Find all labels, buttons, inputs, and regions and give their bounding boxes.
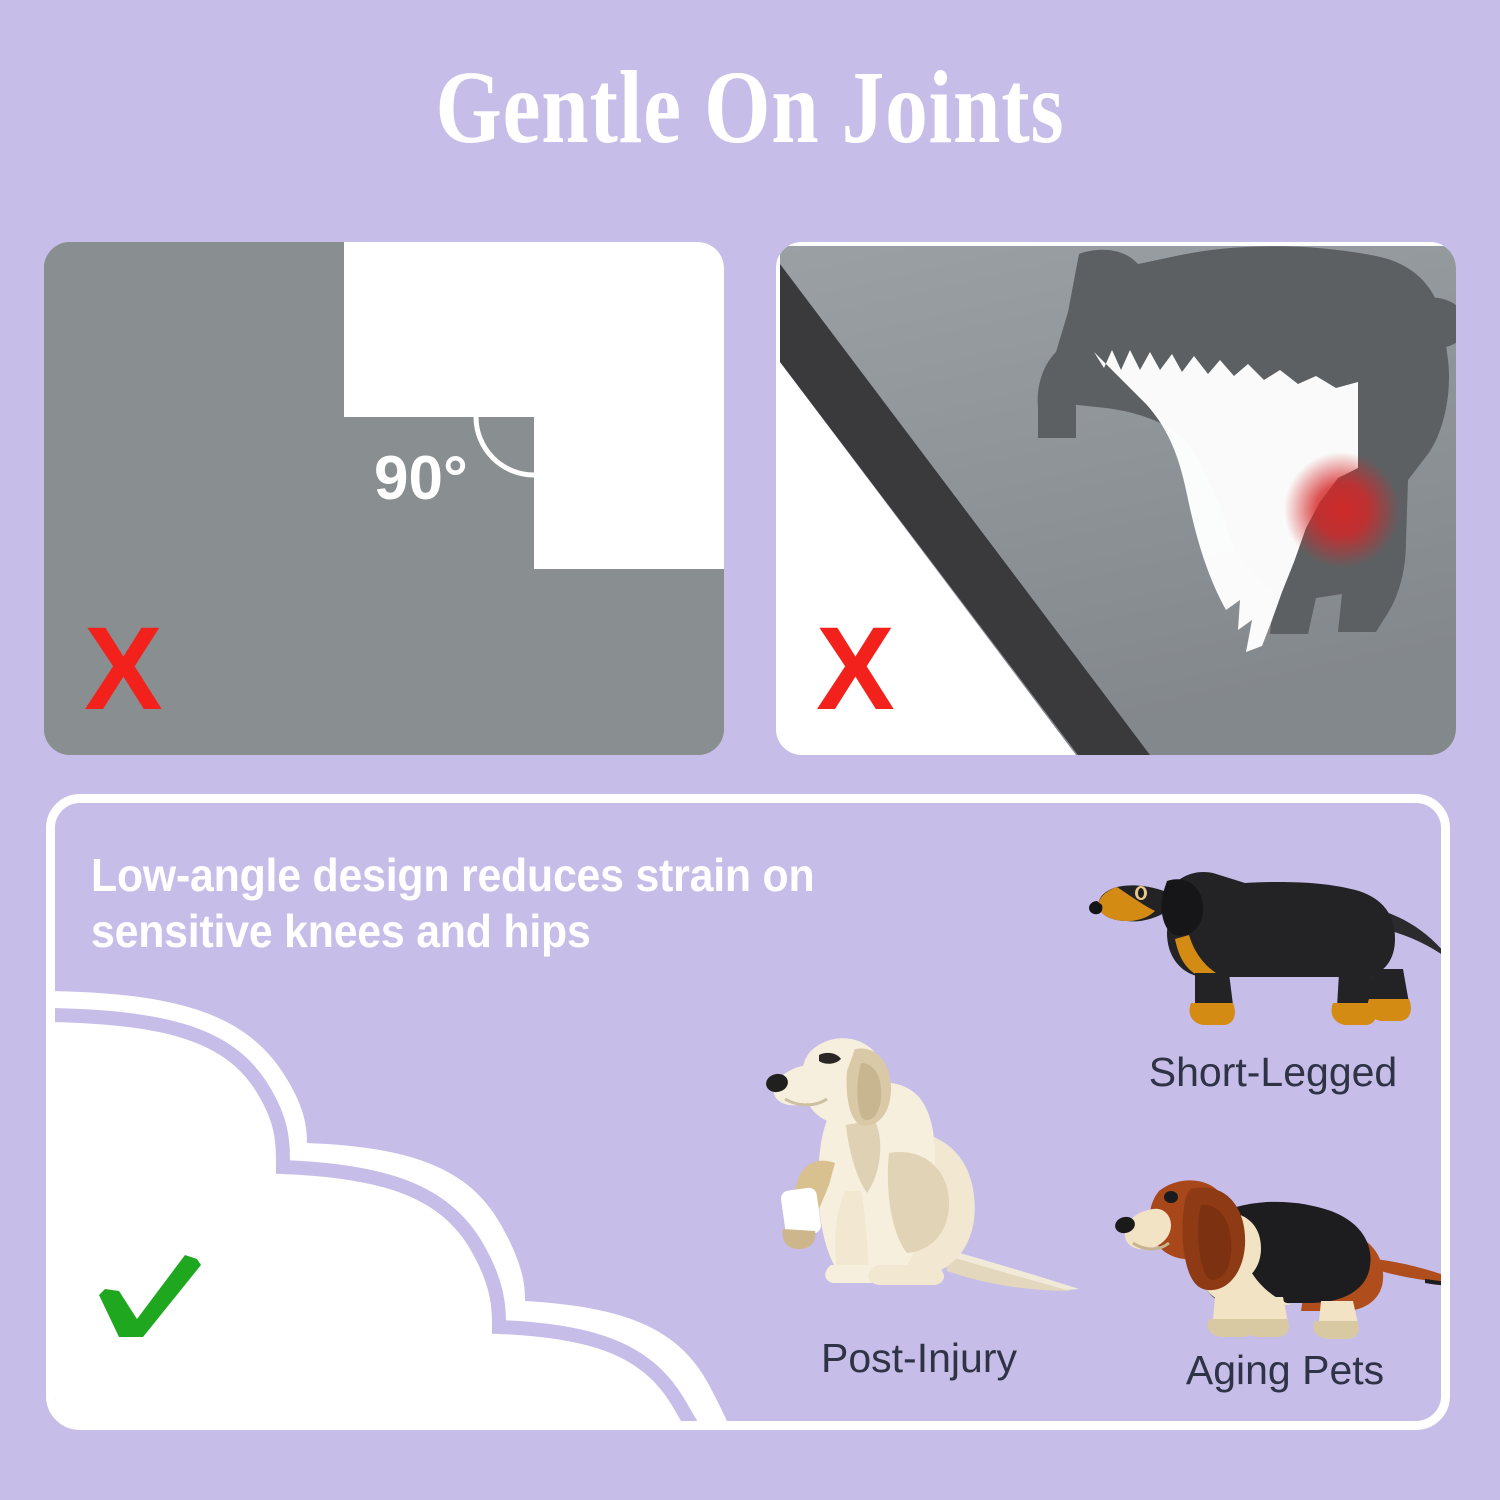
x-mark-icon: X xyxy=(84,610,163,728)
low-angle-stairs-illustration xyxy=(49,971,749,1430)
angle-label-90: 90° xyxy=(374,448,468,510)
x-mark-icon: X xyxy=(816,610,895,728)
dog-cell-short-legged: Short-Legged xyxy=(1083,847,1450,1096)
dog-label-aging-pets: Aging Pets xyxy=(1095,1347,1450,1394)
card-steep-stairs: 90° X xyxy=(44,242,724,755)
dog-label-short-legged: Short-Legged xyxy=(1083,1049,1450,1096)
golden-retriever-illustration xyxy=(749,993,1089,1333)
card-steep-ramp: X xyxy=(776,242,1456,755)
dog-cell-aging-pets: Aging Pets xyxy=(1095,1155,1450,1394)
panel-caption: Low-angle design reduces strain on sensi… xyxy=(91,847,872,959)
check-mark-icon xyxy=(89,1233,209,1353)
panel-low-angle-design: Low-angle design reduces strain on sensi… xyxy=(46,794,1450,1430)
page-title: Gentle On Joints xyxy=(135,56,1365,160)
basset-hound-illustration xyxy=(1095,1155,1450,1345)
pain-indicator xyxy=(1284,452,1400,568)
dog-cell-post-injury: Post-Injury xyxy=(749,993,1089,1382)
dog-label-post-injury: Post-Injury xyxy=(749,1335,1089,1382)
infographic-canvas: Gentle On Joints 90° X xyxy=(0,0,1500,1500)
dachshund-illustration xyxy=(1083,847,1450,1047)
